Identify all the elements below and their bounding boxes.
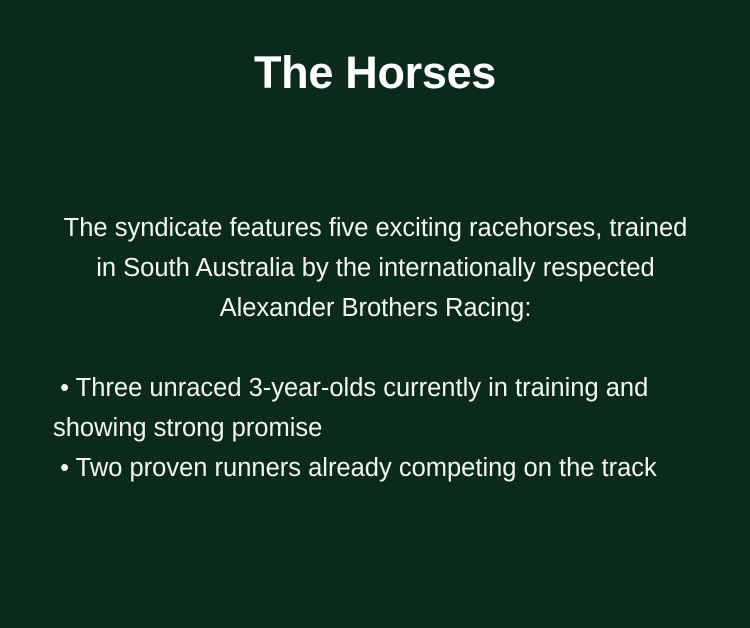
list-item: • Three unraced 3-year-olds currently in…	[53, 368, 698, 448]
paragraph-spacer	[53, 328, 698, 368]
page-title: The Horses	[0, 46, 750, 99]
list-item: • Two proven runners already competing o…	[53, 448, 698, 488]
slide-root: The Horses The syndicate features five e…	[0, 0, 750, 628]
bullet-list: • Three unraced 3-year-olds currently in…	[53, 368, 698, 488]
intro-paragraph: The syndicate features five exciting rac…	[53, 208, 698, 328]
slide-body: The syndicate features five exciting rac…	[53, 208, 698, 488]
